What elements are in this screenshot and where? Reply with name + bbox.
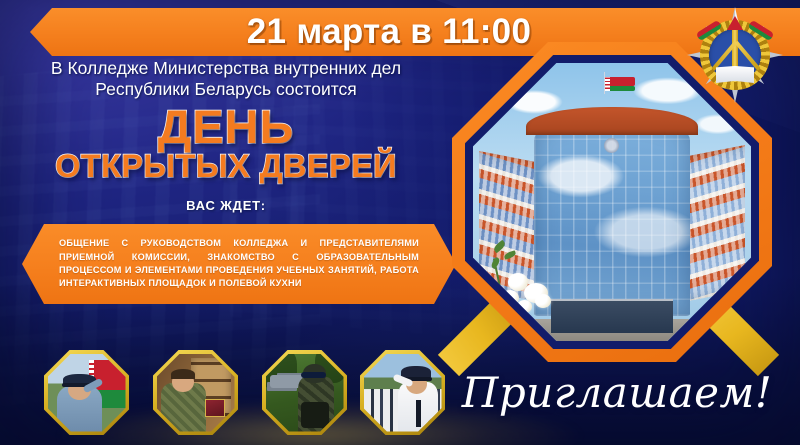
subtitle-line-2: Республики Беларусь состоится [14,79,438,100]
info-hexagon: ОБЩЕНИЕ С РУКОВОДСТВОМ КОЛЛЕДЖА И ПРЕДСТ… [22,224,456,304]
thumb-formation-salute [360,350,445,435]
mvd-emblem-icon [686,6,784,104]
subtitle: В Колледже Министерства внутренних дел Р… [14,58,438,100]
invite-text: Приглашаем! [452,368,782,417]
page-title: ДЕНЬ ОТКРЫТЫХ ДВЕРЕЙ [0,104,452,182]
thumb-cadet-diploma-library [153,350,238,435]
belarus-flag-icon [604,77,638,93]
headline-line-2: ОТКРЫТЫХ ДВЕРЕЙ [0,151,452,182]
poster-root: 21 марта в 11:00 В Колледже Министерства… [0,0,800,445]
facade-emblem-icon [604,138,619,153]
waits-label: ВАС ЖДЕТ: [0,198,452,213]
headline-line-1: ДЕНЬ [0,104,452,149]
info-hexagon-text: ОБЩЕНИЕ С РУКОВОДСТВОМ КОЛЛЕДЖА И ПРЕДСТ… [59,237,419,291]
thumb-officer-salute-flag [44,350,129,435]
college-building-photo [473,63,751,341]
emblem-book-icon [716,66,754,83]
subtitle-line-1: В Колледже Министерства внутренних дел [14,58,438,79]
thumb-soldier-drone-forest [262,350,347,435]
building-cornice [526,107,698,135]
